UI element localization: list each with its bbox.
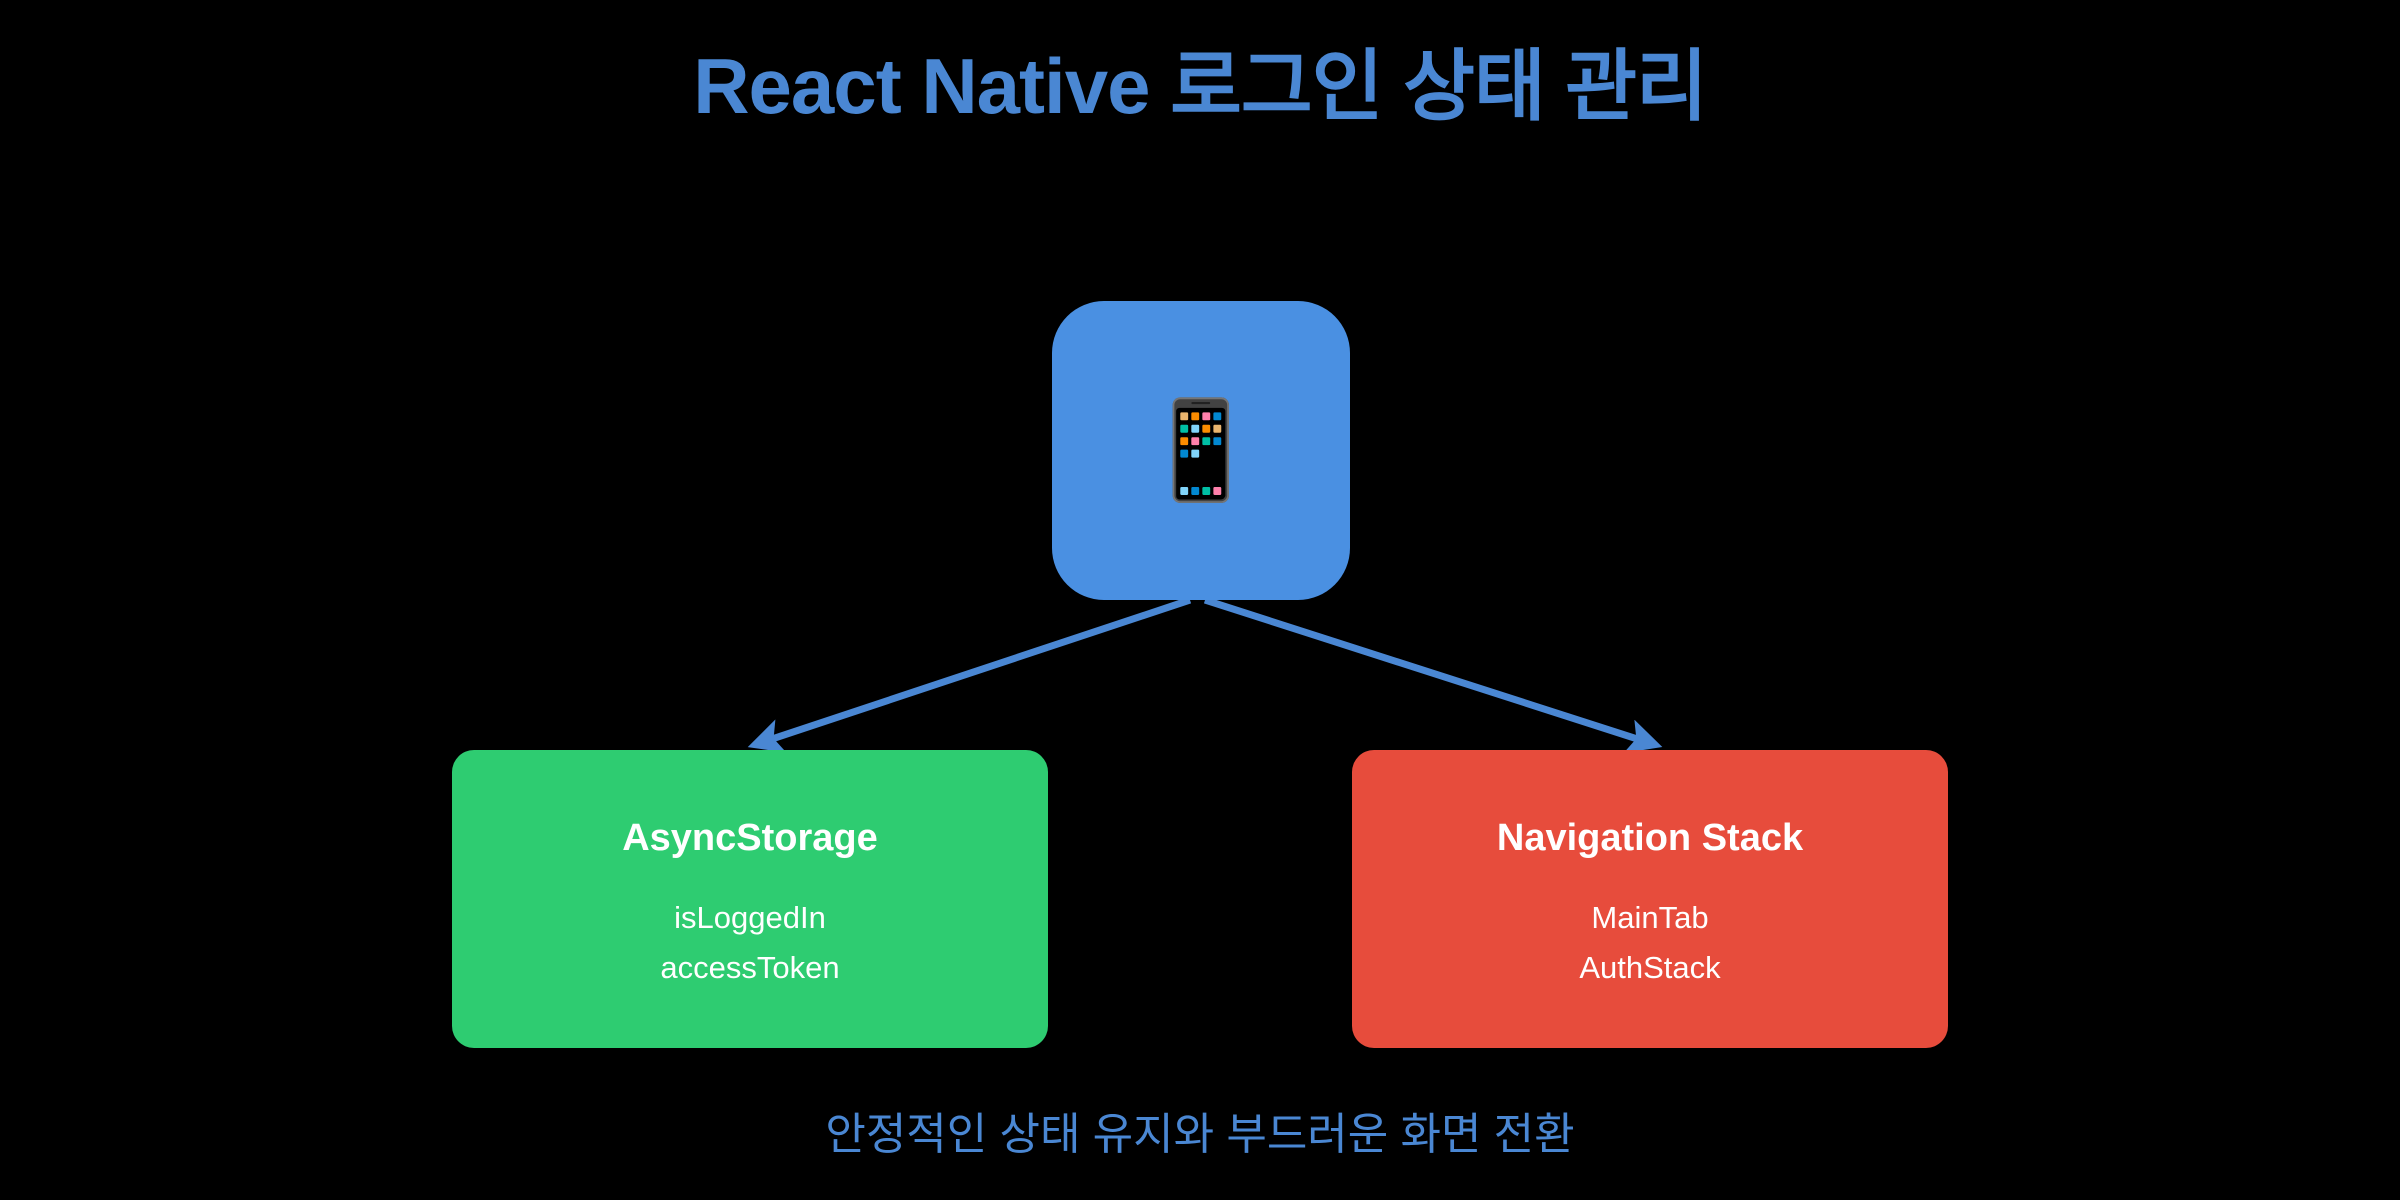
root-node-app: 📱 — [1052, 301, 1350, 600]
mobile-phone-icon: 📱 — [1141, 403, 1261, 499]
node-navigation-stack: Navigation Stack MainTab AuthStack — [1352, 750, 1948, 1048]
connector-to-async-storage — [757, 600, 1190, 744]
node-navigation-stack-title: Navigation Stack — [1497, 817, 1803, 860]
connector-arrows — [0, 0, 2400, 1200]
page-caption: 안정적인 상태 유지와 부드러운 화면 전환 — [0, 1098, 2400, 1162]
node-async-storage-title: AsyncStorage — [622, 817, 878, 860]
node-navigation-stack-item-1: MainTab — [1591, 898, 1708, 938]
node-async-storage-item-1: isLoggedIn — [674, 898, 826, 938]
diagram-canvas: React Native 로그인 상태 관리 📱 AsyncStorage is… — [0, 0, 2400, 1200]
node-async-storage-item-2: accessToken — [660, 948, 839, 988]
node-async-storage: AsyncStorage isLoggedIn accessToken — [452, 750, 1048, 1048]
connector-to-navigation-stack — [1205, 600, 1653, 744]
node-navigation-stack-item-2: AuthStack — [1579, 948, 1720, 988]
